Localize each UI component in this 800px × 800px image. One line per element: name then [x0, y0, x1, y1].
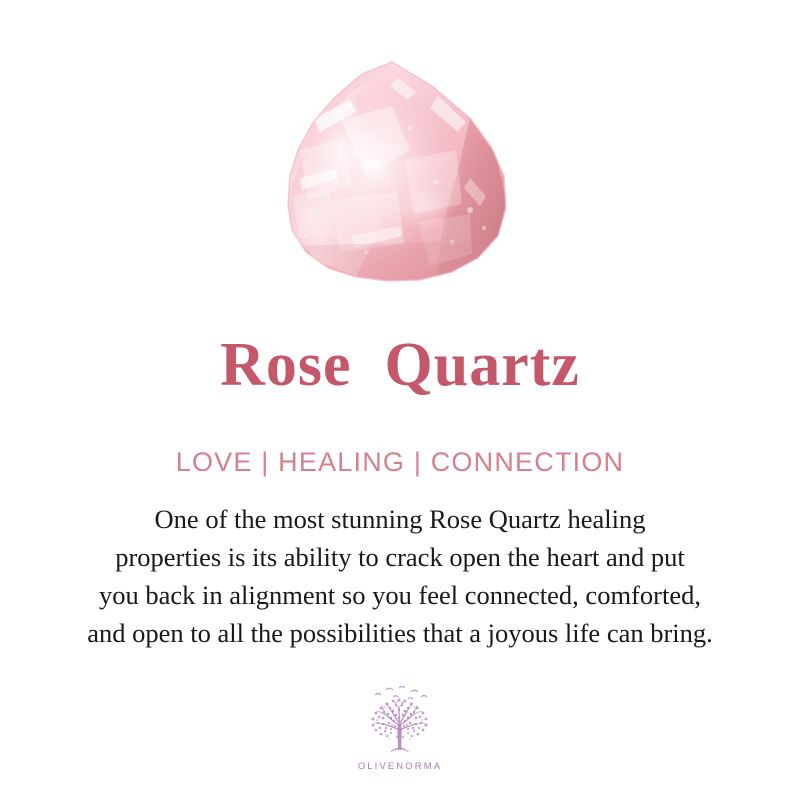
description-text: One of the most stunning Rose Quartz hea… [30, 500, 770, 652]
tree-of-life-icon [353, 684, 447, 760]
rose-quartz-crystal-image [0, 0, 800, 310]
page-title: Rose Quartz [0, 332, 800, 398]
crystal-body [288, 62, 506, 284]
keyword-tagline: LOVE | HEALING | CONNECTION [0, 445, 800, 479]
brand-wordmark: OLIVENORMA [0, 761, 800, 772]
product-info-card: Rose Quartz LOVE | HEALING | CONNECTION … [0, 0, 800, 800]
brand-logo: OLIVENORMA [0, 684, 800, 772]
description-line: One of the most stunning Rose Quartz hea… [30, 500, 770, 538]
rose-quartz-hero [0, 0, 800, 310]
description-line: you back in alignment so you feel connec… [30, 576, 770, 614]
description-line: properties is its ability to crack open … [30, 538, 770, 576]
description-line: and open to all the possibilities that a… [30, 614, 770, 652]
